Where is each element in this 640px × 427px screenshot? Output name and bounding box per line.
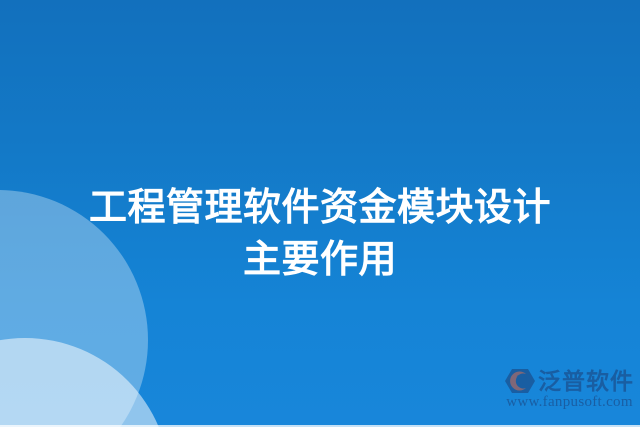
logo-row: 泛普软件 bbox=[505, 368, 634, 394]
logo-company-name: 泛普软件 bbox=[538, 368, 634, 394]
promo-banner: 工程管理软件资金模块设计 主要作用 泛普软件 www.fanpusoft.com bbox=[0, 0, 640, 427]
title-line-2: 主要作用 bbox=[0, 234, 640, 286]
fanpu-hexagon-logo-icon bbox=[505, 368, 535, 394]
title-line-1: 工程管理软件资金模块设计 bbox=[0, 182, 640, 234]
logo-website-url: www.fanpusoft.com bbox=[505, 393, 634, 411]
decorative-circle-lower bbox=[0, 338, 170, 427]
banner-title: 工程管理软件资金模块设计 主要作用 bbox=[0, 182, 640, 286]
watermark-logo: 泛普软件 www.fanpusoft.com bbox=[505, 368, 634, 411]
